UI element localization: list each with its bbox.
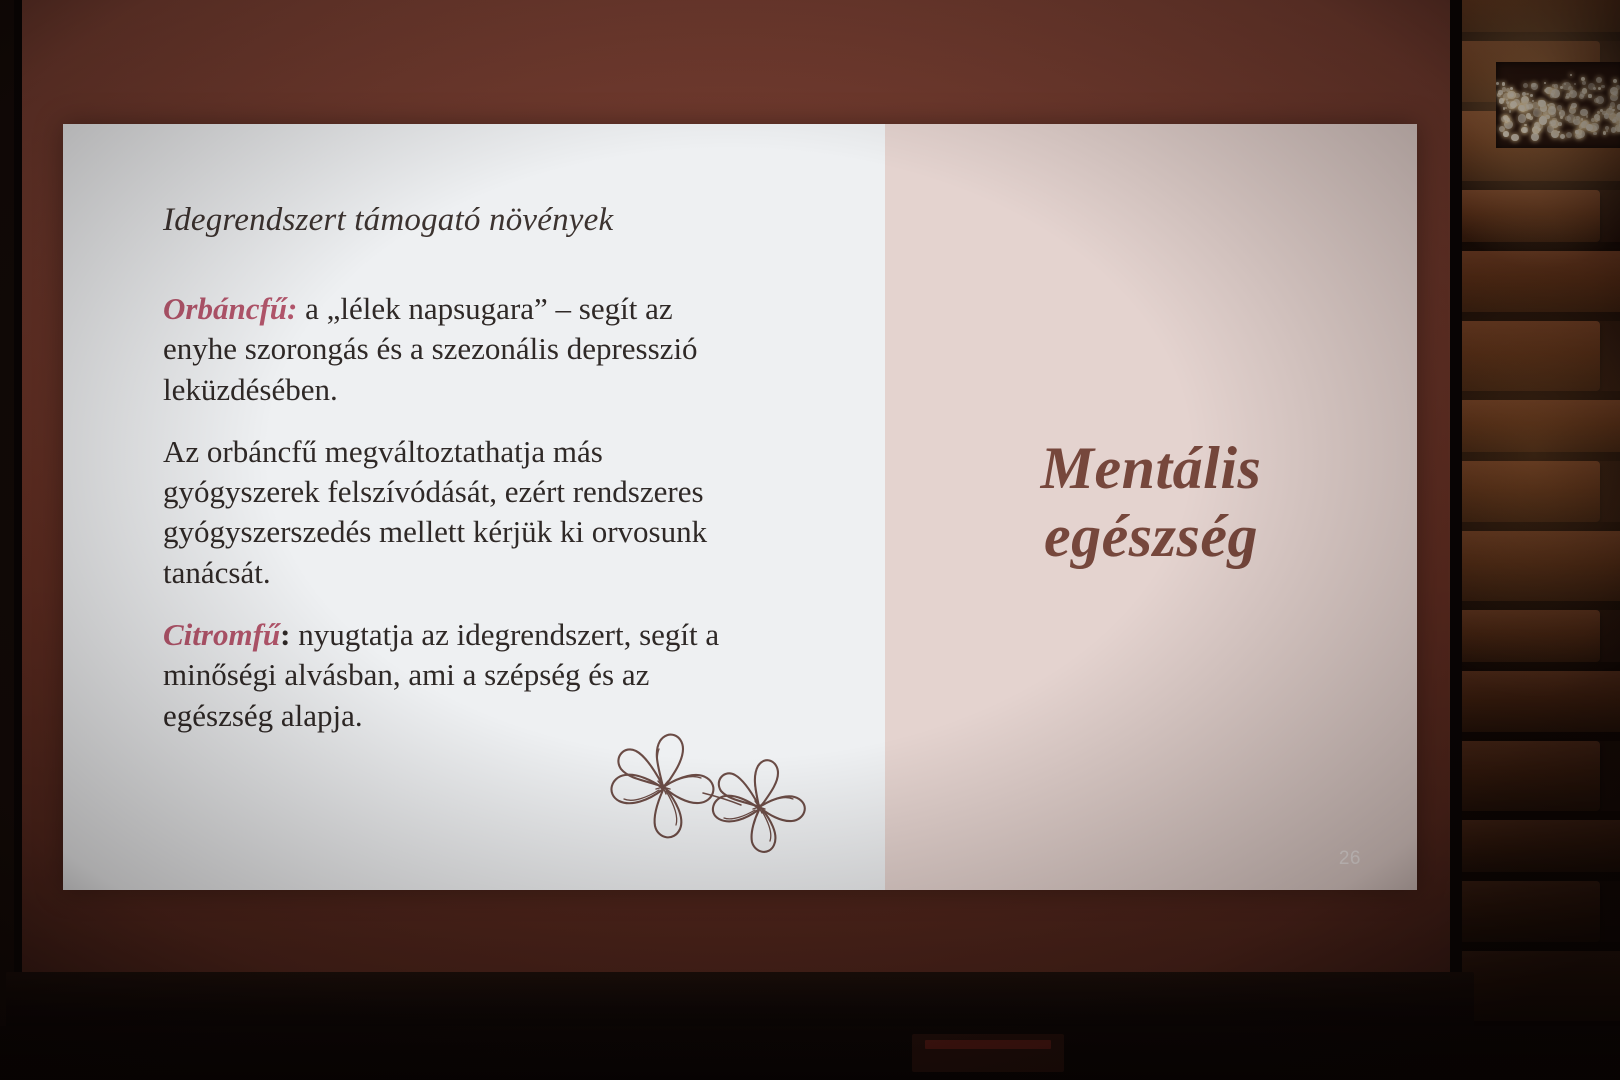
stage-shadow <box>0 1026 1620 1080</box>
panel-title: Mentális egészség <box>1041 434 1262 571</box>
lead-term-citromfu: Citromfű <box>163 617 280 652</box>
flower-line-art-icon <box>591 719 831 869</box>
paragraph-warning-text: Az orbáncfű megváltoztathatja más gyógys… <box>163 434 707 590</box>
slide-heading: Idegrendszert támogató növények <box>163 202 885 239</box>
slide-page-number: 26 <box>1339 848 1361 870</box>
presentation-slide: Idegrendszert támogató növények Orbáncfű… <box>63 124 1417 890</box>
lead-term-orbancfu: Orbáncfű: <box>163 291 297 326</box>
paragraph-orbancfu: Orbáncfű: a „lélek napsugara” – segít az… <box>163 289 723 410</box>
panel-title-line-1: Mentális <box>1041 434 1262 502</box>
paragraph-warning: Az orbáncfű megváltoztathatja más gyógys… <box>163 432 723 593</box>
slide-title-panel: Mentális egészség 26 <box>885 124 1417 890</box>
wall-plate-label <box>925 1040 1051 1049</box>
paragraph-citromfu: Citromfű: nyugtatja az idegrendszert, se… <box>163 615 723 736</box>
slide-content-panel: Idegrendszert támogató növények Orbáncfű… <box>63 124 885 890</box>
brick-wall <box>1448 0 1620 1080</box>
screen-weight-bar <box>6 972 1474 1034</box>
slide-body-block: Orbáncfű: a „lélek napsugara” – segít az… <box>163 289 723 736</box>
room-scene: Idegrendszert támogató növények Orbáncfű… <box>0 0 1620 1080</box>
perforated-dot-panel <box>1496 62 1620 148</box>
panel-title-line-2: egészség <box>1041 502 1262 570</box>
lead-term-citromfu-colon: : <box>280 617 290 652</box>
